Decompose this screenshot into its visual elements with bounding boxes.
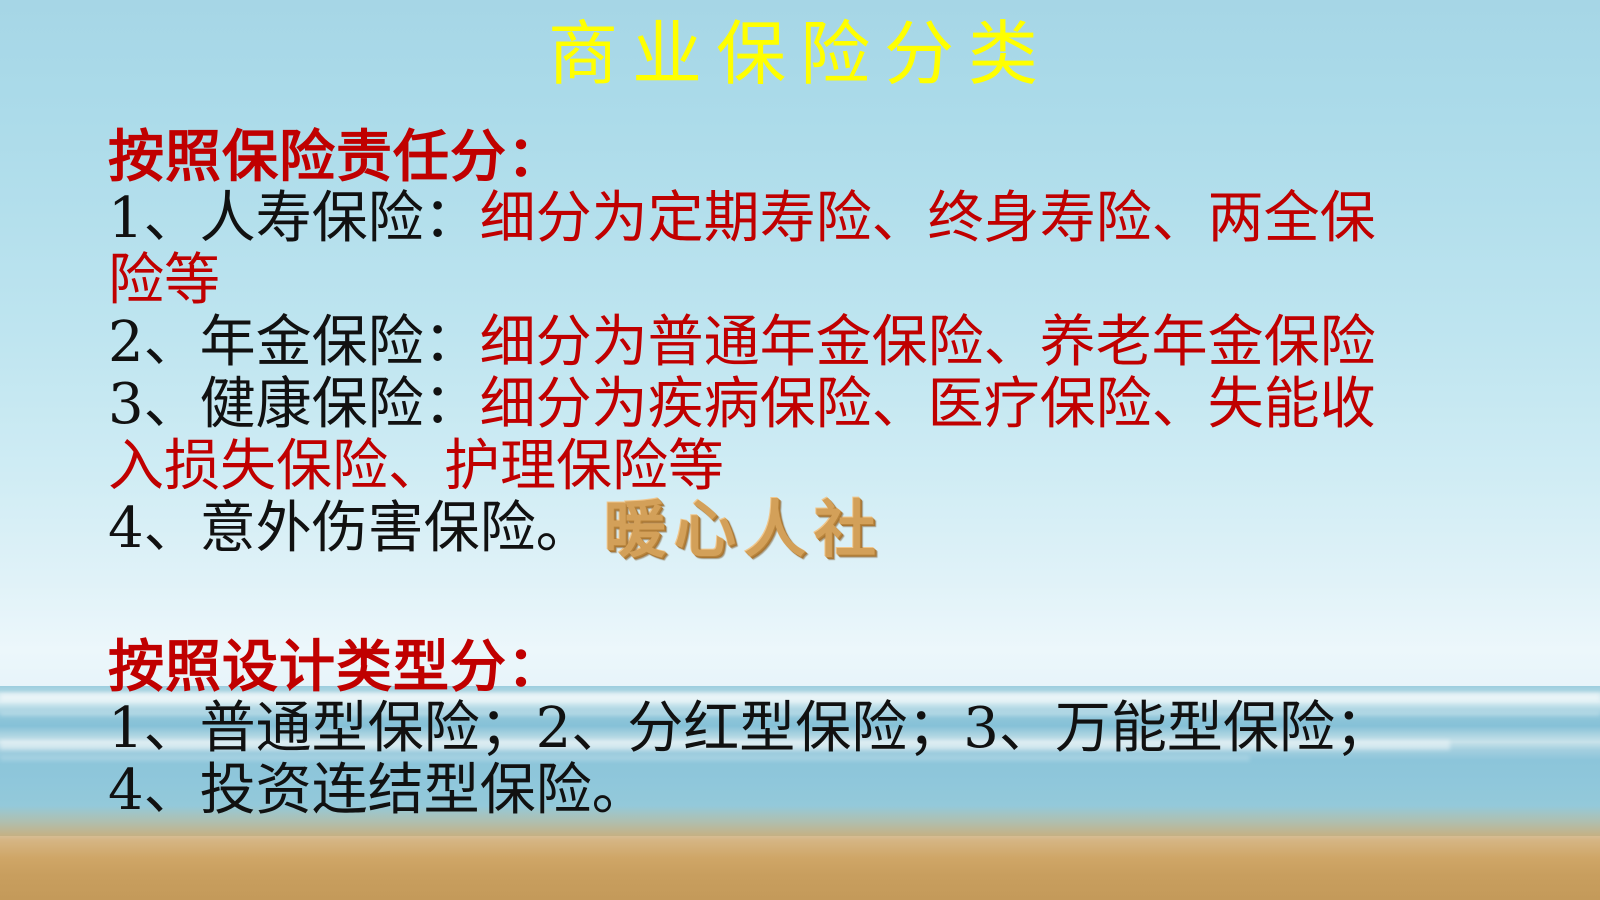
- item-detail: 细分为疾病保险、医疗保险、失能收: [480, 372, 1376, 437]
- section-heading-liability: 按照保险责任分：: [108, 126, 1528, 188]
- section-heading-design-type: 按照设计类型分：: [108, 636, 1528, 698]
- list-item: 2、年金保险：细分为普通年金保险、养老年金保险: [108, 312, 1528, 374]
- list-item: 4、投资连结型保险。: [108, 760, 1528, 822]
- watermark-logo: 暖心人社: [604, 496, 884, 564]
- section-design-type: 按照设计类型分： 1、普通型保险；2、分红型保险；3、万能型保险； 4、投资连结…: [108, 636, 1528, 822]
- item-detail: 细分为普通年金保险、养老年金保险: [480, 310, 1376, 375]
- list-item: 1、普通型保险；2、分红型保险；3、万能型保险；: [108, 698, 1528, 760]
- list-item-continuation: 险等: [108, 250, 1528, 312]
- item-label: 1、人寿保险：: [108, 186, 480, 251]
- item-label: 4、投资连结型保险。: [108, 758, 648, 823]
- item-label: 2、年金保险：: [108, 310, 480, 375]
- presentation-slide: 商业保险分类 按照保险责任分： 1、人寿保险：细分为定期寿险、终身寿险、两全保 …: [0, 0, 1600, 900]
- slide-title: 商业保险分类: [0, 14, 1600, 94]
- item-detail: 险等: [108, 248, 220, 313]
- item-detail: 细分为定期寿险、终身寿险、两全保: [480, 186, 1376, 251]
- item-label: 4、意外伤害保险。: [108, 496, 592, 561]
- list-item: 1、人寿保险：细分为定期寿险、终身寿险、两全保: [108, 188, 1528, 250]
- list-item: 3、健康保险：细分为疾病保险、医疗保险、失能收: [108, 374, 1528, 436]
- item-label: 3、健康保险：: [108, 372, 480, 437]
- item-label: 1、普通型保险；2、分红型保险；3、万能型保险；: [108, 696, 1391, 761]
- list-item-continuation: 入损失保险、护理保险等: [108, 436, 1528, 498]
- item-detail: 入损失保险、护理保险等: [108, 434, 724, 499]
